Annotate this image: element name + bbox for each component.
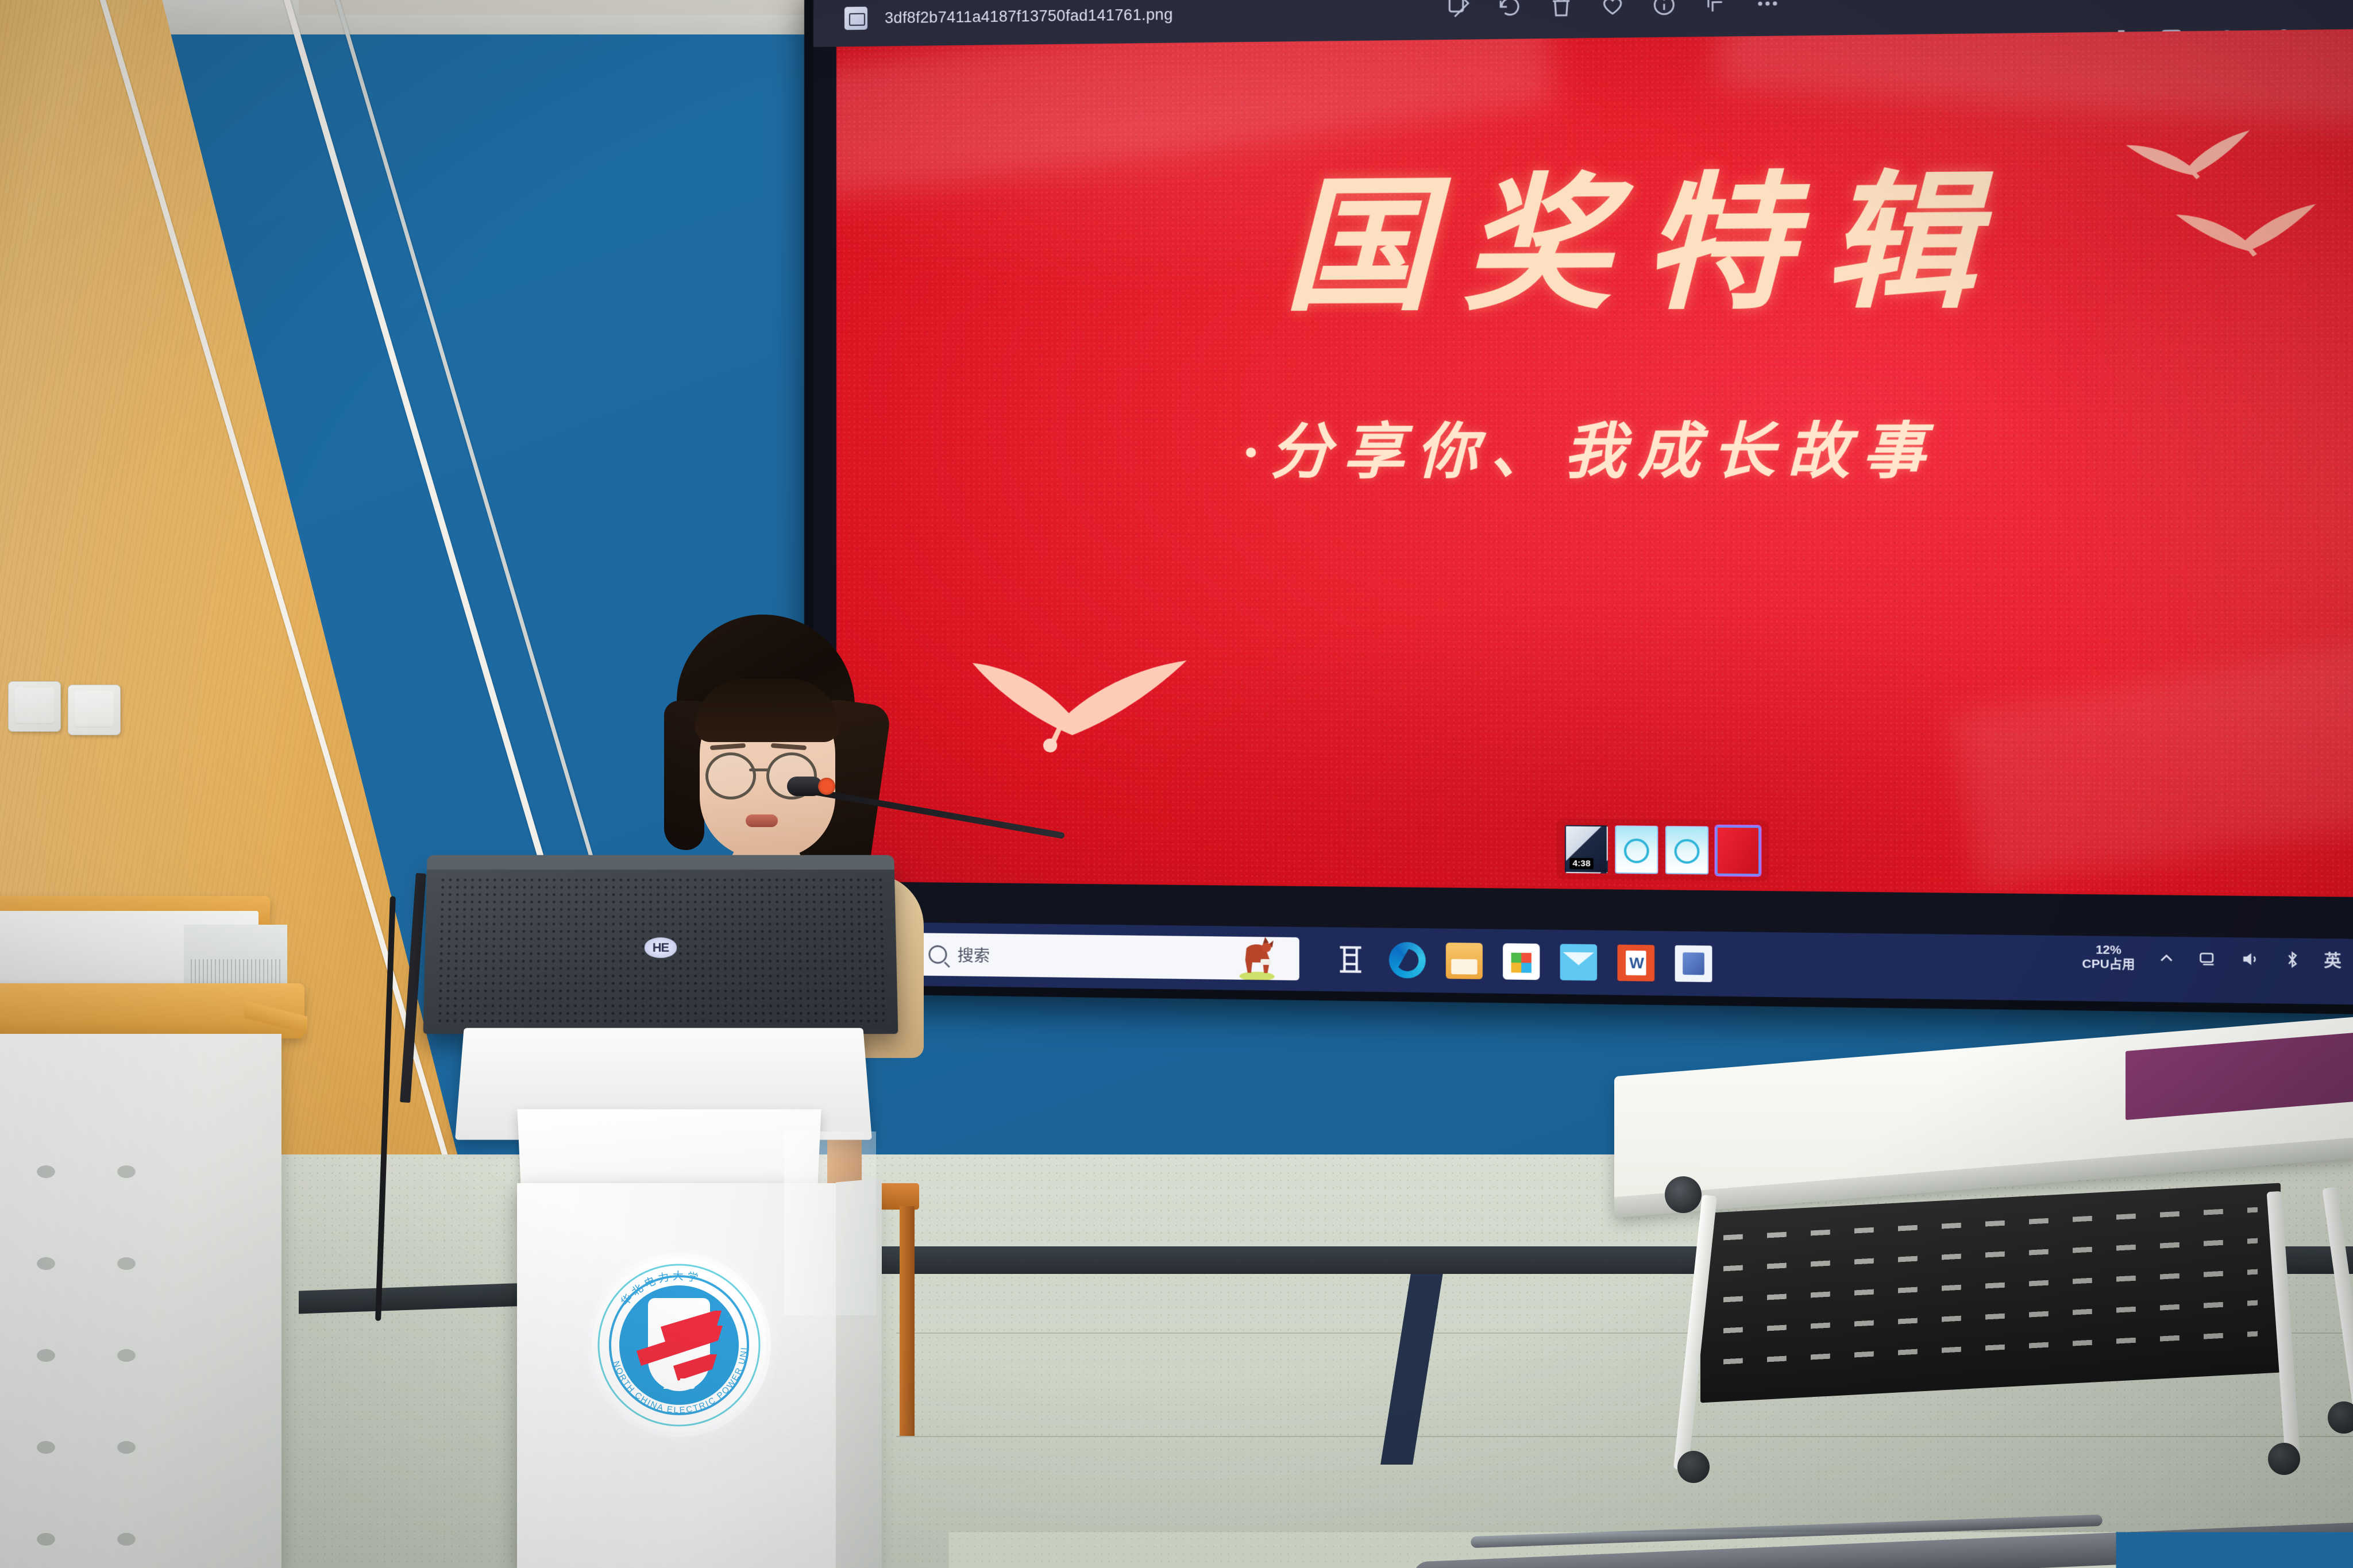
edit-icon[interactable] xyxy=(1446,0,1471,20)
delete-icon[interactable] xyxy=(1549,0,1574,18)
table-caster xyxy=(2328,1401,2353,1434)
file-explorer-icon[interactable] xyxy=(1446,943,1483,979)
network-icon[interactable] xyxy=(2198,948,2219,969)
filename-label: 3df8f2b7411a4187f13750fad141761.png xyxy=(885,5,1173,26)
fringe xyxy=(695,679,839,742)
cpu-usage-label: CPU占用 xyxy=(2082,957,2135,972)
mouth xyxy=(746,814,778,827)
filmstrip-thumbnail[interactable] xyxy=(1615,825,1658,874)
table-fold-knob[interactable] xyxy=(1665,1176,1702,1213)
cpu-usage-indicator[interactable]: 12% CPU占用 xyxy=(2082,943,2135,972)
podium-acrylic-panel xyxy=(784,1131,876,1315)
slide-subtitle: ·分享你、我成长故事 xyxy=(1243,401,1937,490)
table-caster xyxy=(2268,1443,2300,1475)
seagull-large-icon xyxy=(969,648,1190,759)
search-input[interactable]: 搜索 xyxy=(915,933,1299,980)
share-icon[interactable] xyxy=(1703,0,1729,17)
light-switch-right[interactable] xyxy=(68,685,121,735)
microsoft-store-icon[interactable] xyxy=(1503,943,1540,980)
filmstrip-thumbnail-video[interactable]: 4:38 xyxy=(1565,825,1608,873)
system-tray[interactable]: 12% CPU占用 英 16:35 2025/10/18 xyxy=(2082,943,2353,976)
folding-training-table xyxy=(1591,1055,2353,1480)
cpu-usage-value: 12% xyxy=(2082,943,2135,958)
console-counter-top-front xyxy=(0,983,304,1038)
volume-icon[interactable] xyxy=(2240,949,2261,970)
microphone-windscreen xyxy=(818,778,835,795)
table-caster xyxy=(1677,1451,1710,1483)
modesty-panel-slots xyxy=(1723,1207,2258,1382)
search-placeholder: 搜索 xyxy=(958,943,990,967)
favorite-icon[interactable] xyxy=(1600,0,1625,18)
bluetooth-icon[interactable] xyxy=(2282,949,2303,970)
podium-monitor[interactable]: HE xyxy=(423,863,898,1034)
chevron-up-icon[interactable] xyxy=(2156,948,2177,969)
monitor-brand-badge: HE xyxy=(645,937,677,958)
video-duration-label: 4:38 xyxy=(1569,858,1594,870)
modesty-panel xyxy=(1700,1183,2281,1403)
classroom-scene: 3df8f2b7411a4187f13750fad141761.png xyxy=(0,0,2353,1568)
display-screen[interactable]: 3df8f2b7411a4187f13750fad141761.png xyxy=(804,0,2353,1015)
windows-taskbar[interactable]: 搜索 xyxy=(813,921,2353,1006)
taskbar-apps[interactable] xyxy=(1332,941,1712,982)
slide-image: 国奖特辑 ·分享你、我成长故事 4:38 xyxy=(836,28,2353,898)
monitor-top-edge xyxy=(427,855,894,870)
more-options-icon[interactable] xyxy=(1755,0,1780,16)
widgets-icon[interactable] xyxy=(1332,941,1369,978)
powerpoint-icon[interactable] xyxy=(1675,945,1712,982)
microphone-head xyxy=(787,777,823,796)
chair-leg xyxy=(900,1206,915,1436)
light-switch-left[interactable] xyxy=(8,681,61,732)
university-logo: 1958 华北电力大学 NORTH CHINA ELECTRIC POWER U… xyxy=(587,1253,771,1437)
filmstrip-thumbnail[interactable] xyxy=(1665,826,1708,875)
slide-title: 国奖特辑 xyxy=(1284,122,2008,339)
eyeglass-lens-left xyxy=(705,752,756,800)
eyeglass-bridge xyxy=(749,768,769,771)
screen-content: 3df8f2b7411a4187f13750fad141761.png xyxy=(813,0,2353,1006)
mail-icon[interactable] xyxy=(1560,944,1597,980)
filmstrip-thumbnail-selected[interactable] xyxy=(1716,826,1761,876)
photos-toolbar xyxy=(1446,0,1780,20)
ime-indicator[interactable]: 英 xyxy=(2324,948,2341,972)
screen-bezel: 3df8f2b7411a4187f13750fad141761.png xyxy=(813,0,2353,1006)
console-panel-dots xyxy=(6,1126,138,1551)
photos-app-icon xyxy=(844,7,867,30)
photos-filmstrip[interactable]: 4:38 xyxy=(1556,818,1769,882)
search-illustration-icon xyxy=(1229,934,1285,980)
table-leg xyxy=(2322,1187,2353,1416)
seagull-icon xyxy=(2173,199,2321,265)
word-icon[interactable] xyxy=(1617,945,1654,982)
rotate-icon[interactable] xyxy=(1498,0,1523,19)
svg-text:1958: 1958 xyxy=(662,1375,696,1392)
edge-icon[interactable] xyxy=(1389,942,1426,979)
info-icon[interactable] xyxy=(1652,0,1677,17)
